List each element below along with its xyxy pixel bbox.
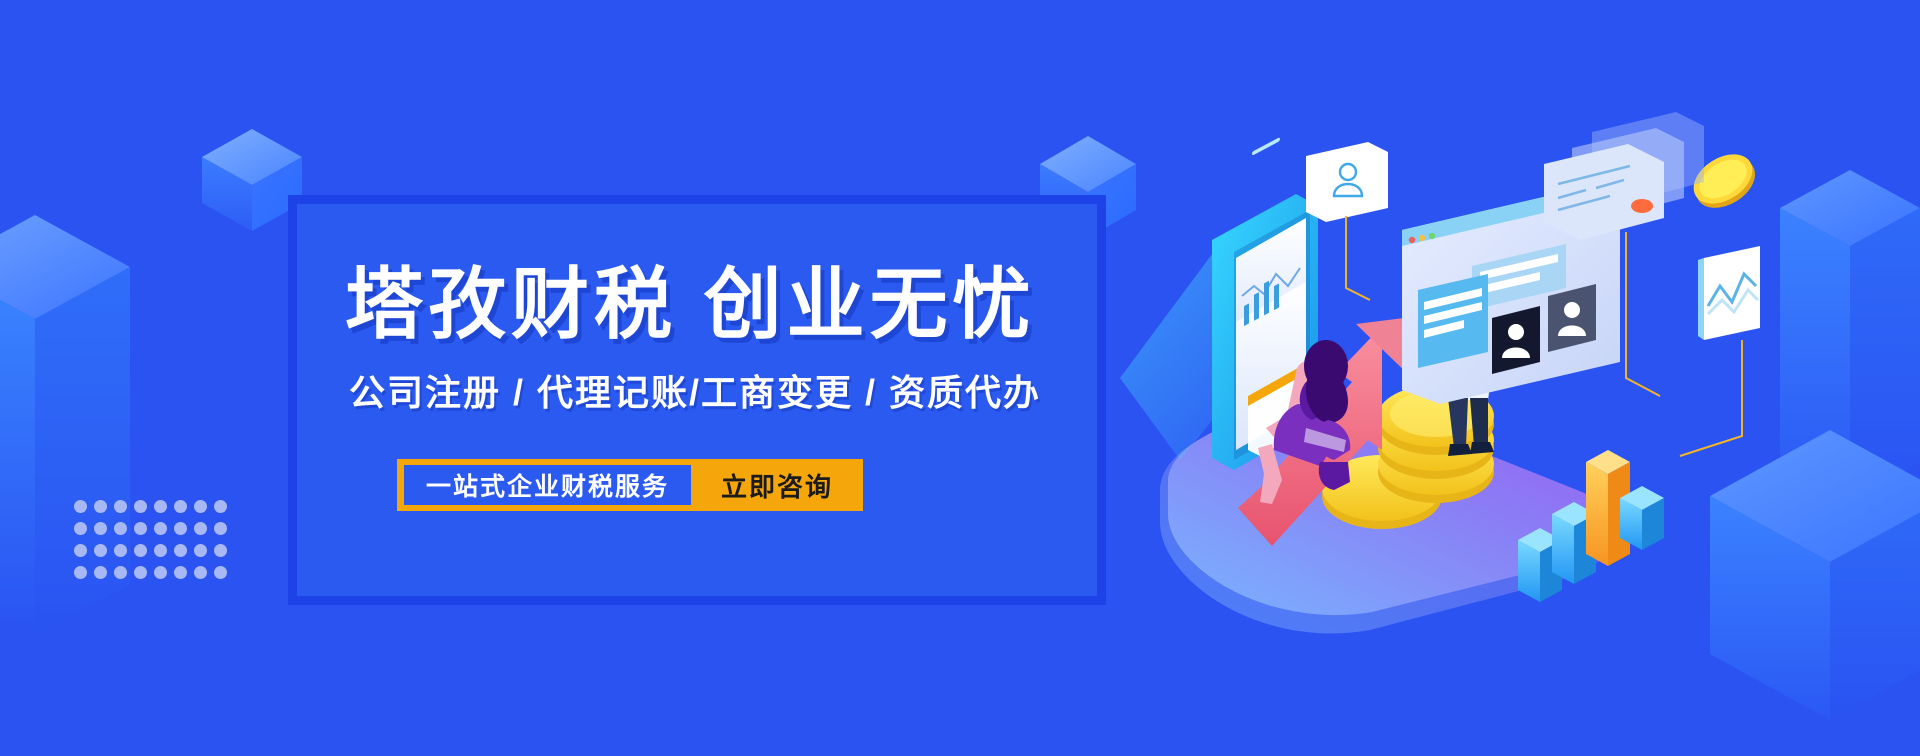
isometric-finance-illustration: [1120, 110, 1760, 670]
banner-root: 塔孜财税 创业无忧 公司注册 / 代理记账/工商变更 / 资质代办 一站式企业财…: [0, 0, 1920, 756]
headline-frame: 塔孜财税 创业无忧 公司注册 / 代理记账/工商变更 / 资质代办 一站式企业财…: [288, 195, 1106, 605]
consult-button-label: 立即咨询: [721, 467, 833, 504]
credit-card: [1544, 112, 1704, 240]
iso-pillar-right-icon: [1780, 170, 1920, 530]
contact-card: [1306, 142, 1388, 222]
chart-card: [1698, 246, 1760, 340]
cta-tag-label: 一站式企业财税服务: [426, 467, 669, 503]
iso-box-left-icon: [0, 215, 280, 635]
consult-button[interactable]: 立即咨询: [691, 467, 859, 504]
headline-frame-inner: 塔孜财税 创业无忧 公司注册 / 代理记账/工商变更 / 资质代办 一站式企业财…: [297, 204, 1097, 596]
page-title: 塔孜财税 创业无忧: [345, 242, 1036, 354]
cta-bar[interactable]: 一站式企业财税服务 立即咨询: [397, 459, 863, 511]
dot-grid-pattern: [74, 500, 234, 588]
cta-tag: 一站式企业财税服务: [404, 465, 691, 505]
services-subtitle: 公司注册 / 代理记账/工商变更 / 资质代办: [349, 364, 1041, 416]
